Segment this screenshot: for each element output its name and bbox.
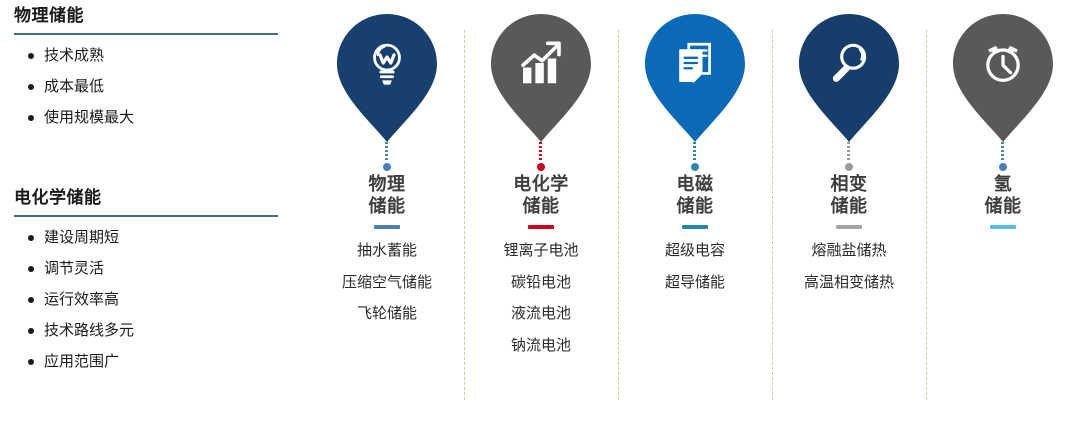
sidebar-section-electrochemical: 电化学储能 建设周期短 调节灵活 运行效率高 技术路线多元 应用范围广 [0,188,300,384]
list-item: 液流电池 [503,305,578,323]
list-item-label: 建设周期短 [44,229,119,246]
column-accent-bar [374,225,400,229]
list-item: 碳铅电池 [503,274,578,292]
pin-tail-enddot [383,163,391,171]
list-item: 抽水蓄能 [342,242,432,260]
bullet-icon [28,115,34,121]
column-hydrogen-storage[interactable]: 氢 储能 [926,0,1080,434]
list-item: 使用规模最大 [0,109,300,127]
list-item-label: 技术路线多元 [44,322,134,339]
list-item: 钠流电池 [503,337,578,355]
column-item-list: 抽水蓄能 压缩空气储能 飞轮储能 [342,242,432,337]
list-item-label: 技术成熟 [44,47,104,64]
bullet-icon [28,235,34,241]
column-title-line2: 储能 [985,196,1022,218]
pin-columns: 物理 储能 抽水蓄能 压缩空气储能 飞轮储能 [310,0,1080,434]
sidebar-section-physical: 物理储能 技术成熟 成本最低 使用规模最大 [0,6,300,140]
pin-tail-enddot [537,163,545,171]
column-title-line2: 储能 [677,196,714,218]
alarm-clock-icon [951,32,1055,94]
column-accent-bar [682,225,708,229]
column-divider [464,30,465,400]
list-item-label: 运行效率高 [44,291,119,308]
list-item: 飞轮储能 [342,305,432,323]
column-title: 相变 储能 [831,174,868,218]
column-title: 物理 储能 [369,174,406,218]
list-item: 建设周期短 [0,229,300,247]
bullet-icon [28,359,34,365]
list-item: 运行效率高 [0,291,300,309]
bullet-icon [28,328,34,334]
pin-tail-dots [847,142,850,162]
pin-tail-enddot [999,163,1007,171]
column-phase-change-storage[interactable]: 相变 储能 熔融盐储热 高温相变储热 [772,0,926,434]
documents-icon [643,32,747,94]
list-item-label: 成本最低 [44,78,104,95]
growth-chart-icon [489,32,593,94]
list-item: 超级电容 [665,242,725,260]
pin-tail-enddot [845,163,853,171]
bullet-icon [28,84,34,90]
list-item: 调节灵活 [0,260,300,278]
magnifier-icon [797,32,901,94]
list-item: 熔融盐储热 [804,242,894,260]
column-title-line1: 氢 [994,174,1013,194]
pin-electromagnetic[interactable] [643,14,747,164]
column-item-list: 锂离子电池 碳铅电池 液流电池 钠流电池 [503,242,578,369]
list-item: 锂离子电池 [503,242,578,260]
bullet-icon [28,53,34,59]
list-item: 应用范围广 [0,353,300,371]
column-title: 电化学 储能 [513,174,569,218]
pin-tail [385,142,389,168]
pin-tail-dots [385,142,388,162]
column-title-line1: 相变 [831,174,868,194]
list-item: 高温相变储热 [804,274,894,292]
sidebar-list-physical: 技术成熟 成本最低 使用规模最大 [0,47,300,127]
column-item-list: 熔融盐储热 高温相变储热 [804,242,894,305]
pin-tail [1001,142,1005,168]
sidebar-section-title: 物理储能 [14,6,300,33]
sidebar-list-electrochemical: 建设周期短 调节灵活 运行效率高 技术路线多元 应用范围广 [0,229,300,371]
list-item: 压缩空气储能 [342,274,432,292]
bullet-icon [28,297,34,303]
sidebar-section-rule [14,33,278,35]
column-physical-storage[interactable]: 物理 储能 抽水蓄能 压缩空气储能 飞轮储能 [310,0,464,434]
column-divider [772,30,773,400]
column-electrochemical-storage[interactable]: 电化学 储能 锂离子电池 碳铅电池 液流电池 钠流电池 [464,0,618,434]
sidebar-section-title: 电化学储能 [14,188,300,215]
pin-phase-change[interactable] [797,14,901,164]
pin-tail-dots [539,142,542,162]
list-item: 技术路线多元 [0,322,300,340]
column-title-line2: 储能 [369,196,406,218]
list-item-label: 使用规模最大 [44,109,134,126]
pin-tail [847,142,851,168]
pin-physical[interactable] [335,14,439,164]
list-item-label: 调节灵活 [44,260,104,277]
bullet-icon [28,266,34,272]
pin-tail-dots [1001,142,1004,162]
lightbulb-icon [335,32,439,94]
pin-electrochemical[interactable] [489,14,593,164]
column-title-line1: 电化学 [513,174,569,194]
pin-tail [693,142,697,168]
column-divider [926,30,927,400]
column-title-line1: 物理 [369,174,406,194]
sidebar-section-rule [14,215,278,217]
column-divider [618,30,619,400]
list-item: 超导储能 [665,274,725,292]
list-item-label: 应用范围广 [44,353,119,370]
pin-tail [539,142,543,168]
column-accent-bar [836,225,862,229]
column-title: 氢 储能 [985,174,1022,218]
column-title: 电磁 储能 [677,174,714,218]
column-electromagnetic-storage[interactable]: 电磁 储能 超级电容 超导储能 [618,0,772,434]
pin-tail-enddot [691,163,699,171]
column-item-list: 超级电容 超导储能 [665,242,725,305]
list-item: 技术成熟 [0,47,300,65]
pin-tail-dots [693,142,696,162]
column-title-line1: 电磁 [677,174,714,194]
pin-hydrogen[interactable] [951,14,1055,164]
infographic-page: 物理储能 技术成熟 成本最低 使用规模最大 电化学储能 建设周期短 调节灵活 运… [0,0,1080,434]
column-title-line2: 储能 [831,196,868,218]
column-title-line2: 储能 [513,196,569,218]
sidebar: 物理储能 技术成熟 成本最低 使用规模最大 电化学储能 建设周期短 调节灵活 运… [0,0,300,434]
list-item: 成本最低 [0,78,300,96]
column-accent-bar [528,225,554,229]
column-accent-bar [990,225,1016,229]
